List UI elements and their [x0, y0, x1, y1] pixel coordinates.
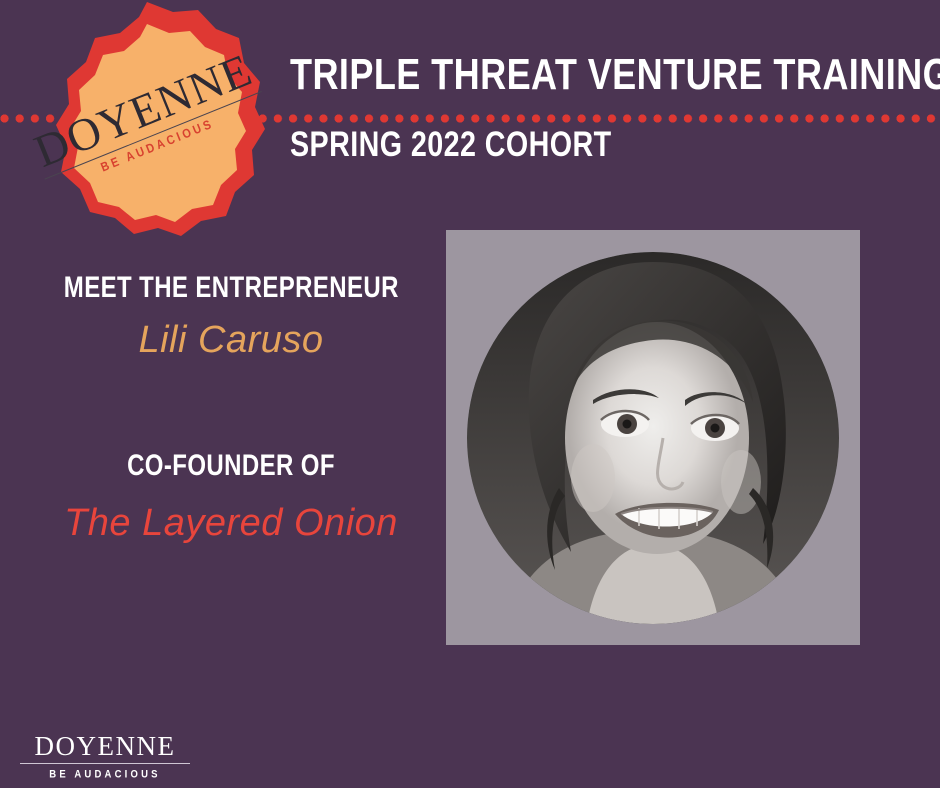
photo-frame	[446, 230, 860, 645]
company-block: CO-FOUNDER OF The Layered Onion	[22, 450, 440, 548]
page-title: TRIPLE THREAT VENTURE TRAINING	[290, 53, 940, 97]
doyenne-badge-logo: DOYENNE BE AUDACIOUS	[26, 0, 268, 240]
poster-canvas: DOYENNE BE AUDACIOUS TRIPLE THREAT VENTU…	[0, 0, 940, 788]
footer-logo-tagline: BE AUDACIOUS	[20, 768, 190, 781]
entrepreneur-label: MEET THE ENTREPRENEUR	[64, 272, 398, 304]
header-title-wrap: TRIPLE THREAT VENTURE TRAINING	[290, 53, 940, 97]
entrepreneur-block: MEET THE ENTREPRENEUR Lili Caruso	[22, 272, 440, 361]
entrepreneur-name: Lili Caruso	[22, 320, 440, 362]
company-name: The Layered Onion	[22, 498, 440, 548]
company-label: CO-FOUNDER OF	[64, 450, 398, 482]
footer-doyenne-logo: DOYENNE BE AUDACIOUS	[20, 733, 190, 780]
portrait-image	[467, 252, 839, 624]
page-subtitle: SPRING 2022 COHORT	[290, 127, 612, 162]
footer-logo-word: DOYENNE	[20, 733, 190, 764]
portrait-photo	[467, 252, 839, 624]
